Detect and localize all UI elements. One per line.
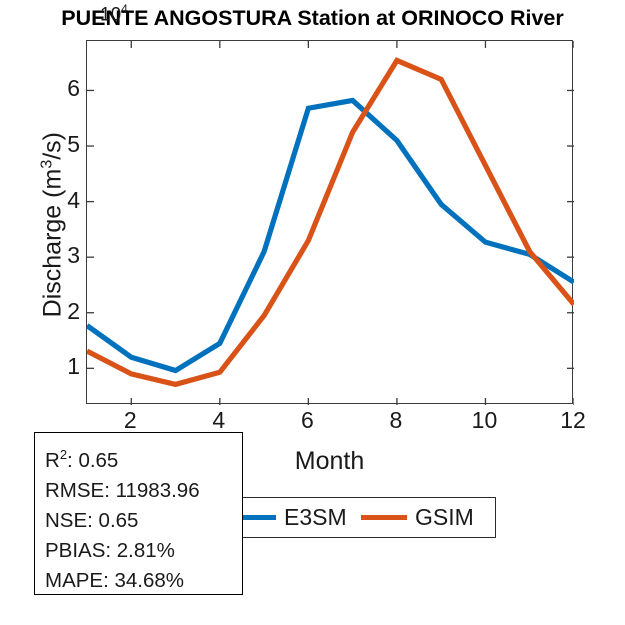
axis-tick-marks	[87, 41, 574, 405]
statistics-annotation-box: R2: 0.65 RMSE: 11983.96 NSE: 0.65 PBIAS:…	[34, 432, 243, 595]
y-axis-exponent-base: 10	[100, 4, 121, 25]
y-axis-exponent-power: 4	[121, 2, 128, 16]
stat-line-rmse: RMSE: 11983.96	[45, 476, 242, 506]
plot-area	[86, 40, 573, 404]
chart-title: PUENTE ANGOSTURA Station at ORINOCO Rive…	[0, 6, 625, 31]
stat-r2-label: R	[45, 449, 60, 472]
stat-line-nse: NSE: 0.65	[45, 506, 242, 536]
y-tick-label: 5	[40, 133, 80, 156]
x-tick-label: 6	[277, 409, 337, 432]
figure-canvas: PUENTE ANGOSTURA Station at ORINOCO Rive…	[0, 0, 625, 625]
legend-label-e3sm: E3SM	[284, 506, 347, 529]
legend-item-e3sm[interactable]: E3SM	[230, 498, 347, 537]
legend-item-gsim[interactable]: GSIM	[361, 498, 474, 537]
stat-r2-value: : 0.65	[67, 449, 118, 472]
series-line-e3sm	[87, 100, 574, 370]
legend-color-swatch-gsim	[361, 515, 407, 520]
y-tick-label: 3	[40, 244, 80, 267]
legend-label-gsim: GSIM	[415, 506, 474, 529]
y-axis-tick-labels: 123456	[34, 40, 80, 404]
y-tick-label: 6	[40, 77, 80, 100]
y-tick-label: 2	[40, 300, 80, 323]
x-tick-label: 8	[366, 409, 426, 432]
stat-line-pbias: PBIAS: 2.81%	[45, 536, 242, 566]
y-tick-label: 4	[40, 189, 80, 212]
x-tick-label: 4	[189, 409, 249, 432]
stat-line-mape: MAPE: 34.68%	[45, 566, 242, 596]
stat-r2-superscript: 2	[60, 447, 67, 462]
plot-svg	[87, 41, 574, 405]
x-tick-label: 12	[543, 409, 603, 432]
chart-legend[interactable]: E3SM GSIM	[222, 497, 496, 538]
y-tick-label: 1	[40, 355, 80, 378]
data-series-lines	[87, 60, 574, 384]
series-line-gsim	[87, 60, 574, 384]
x-tick-label: 2	[100, 409, 160, 432]
stat-line-r2: R2: 0.65	[45, 440, 242, 476]
y-axis-exponent-multiplier: 104	[100, 2, 128, 26]
x-tick-label: 10	[454, 409, 514, 432]
